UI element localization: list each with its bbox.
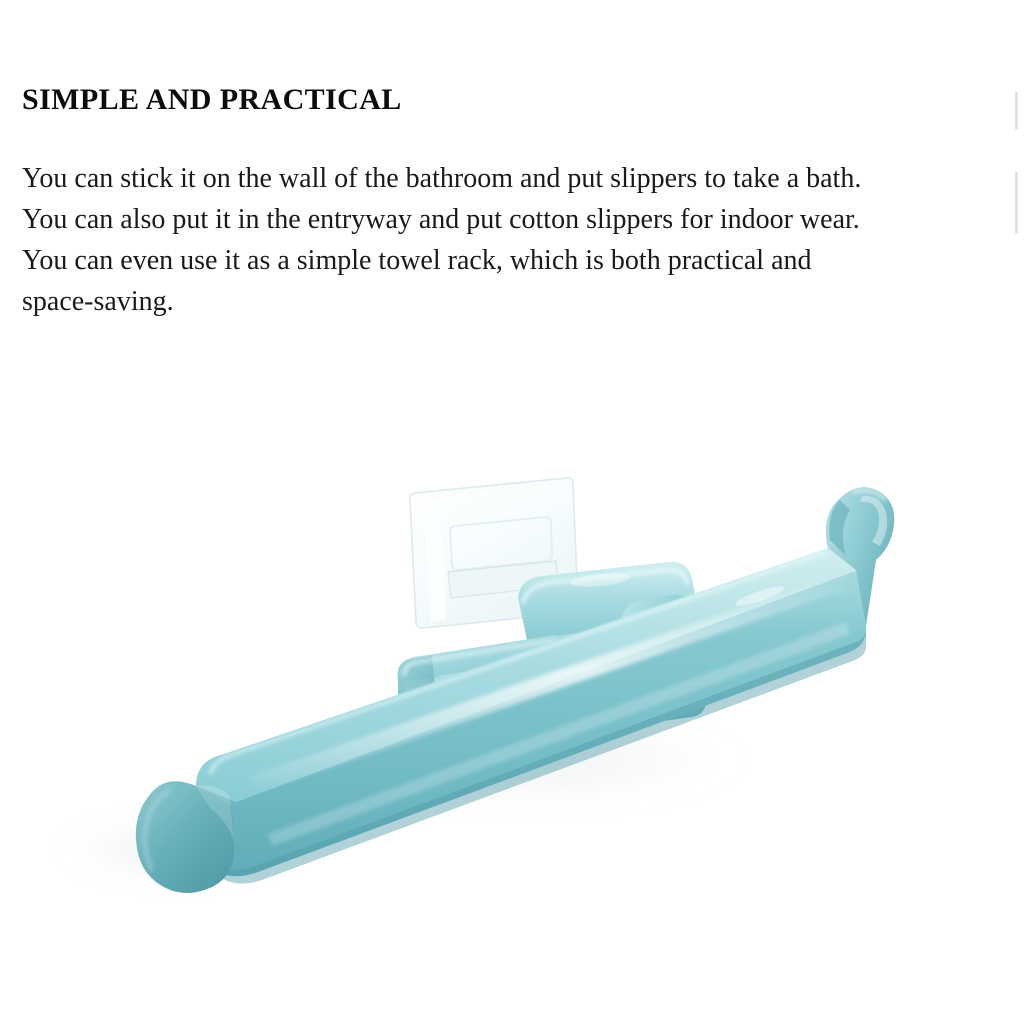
description-paragraph: You can stick it on the wall of the bath…: [22, 158, 982, 322]
text-section: SIMPLE AND PRACTICAL You can stick it on…: [22, 82, 982, 322]
scan-edge-mark-bottom: [1015, 172, 1018, 234]
scan-edge-mark-top: [1015, 92, 1018, 130]
page-title: SIMPLE AND PRACTICAL: [22, 82, 982, 118]
description-line: You can stick it on the wall of the bath…: [22, 158, 982, 199]
description-line: space-saving.: [22, 281, 982, 322]
product-detail-page: SIMPLE AND PRACTICAL You can stick it on…: [0, 0, 1024, 1024]
description-line: You can even use it as a simple towel ra…: [22, 240, 982, 281]
product-image: [0, 430, 1024, 990]
description-line: You can also put it in the entryway and …: [22, 199, 982, 240]
towel-rack-illustration: [0, 430, 1024, 990]
